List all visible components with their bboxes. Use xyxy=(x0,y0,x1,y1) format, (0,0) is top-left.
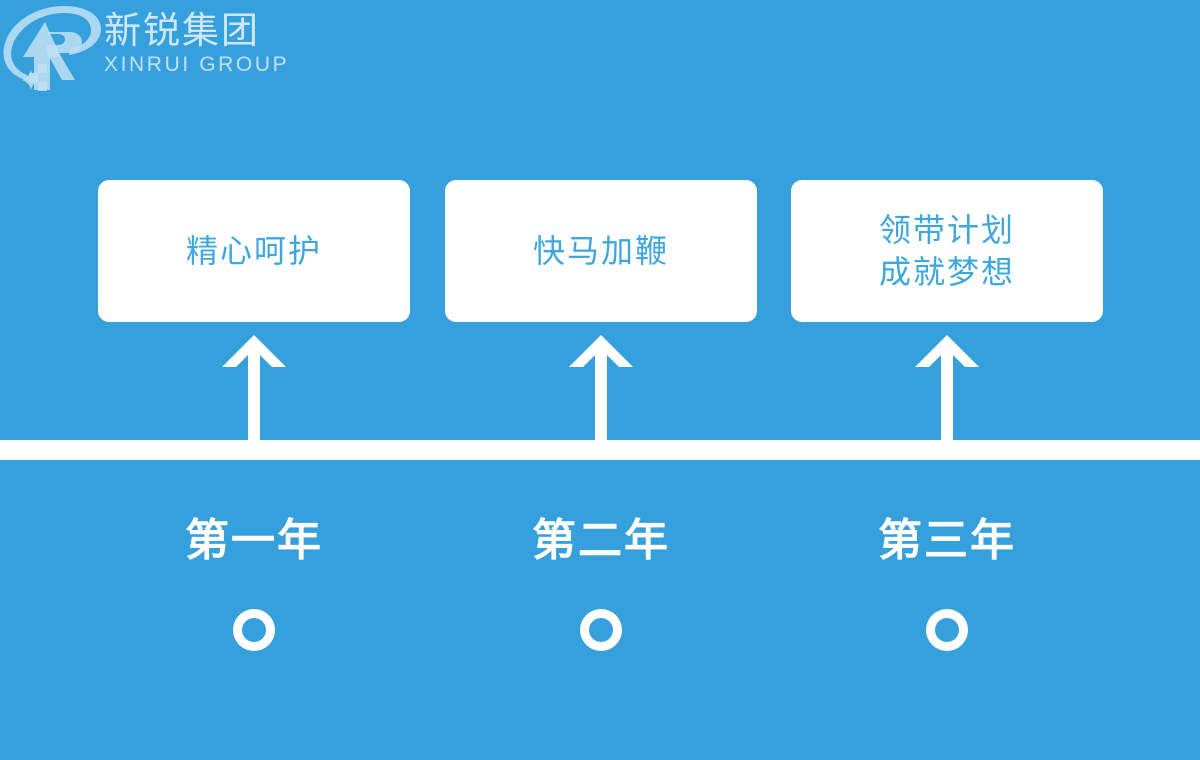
timeline-node-3 xyxy=(926,609,968,651)
milestone-card-text-2: 快马加鞭 xyxy=(533,230,669,272)
xinrui-r-swoosh-arrow-logo-icon xyxy=(0,2,108,102)
milestone-card-text-3: 领带计划 成就梦想 xyxy=(879,209,1015,293)
timeline-node-1 xyxy=(233,609,275,651)
timeline-milestone-1: 精心呵护 第一年 xyxy=(98,180,410,590)
brand-logo: 新锐集团 XINRUI GROUP xyxy=(0,0,300,105)
milestone-year-label-3: 第三年 xyxy=(791,515,1103,567)
brand-name-cn: 新锐集团 xyxy=(104,10,294,51)
arrow-up-icon xyxy=(566,335,636,455)
milestone-card-1[interactable]: 精心呵护 xyxy=(98,180,410,322)
milestone-year-label-2: 第二年 xyxy=(445,515,757,567)
brand-name-en: XINRUI GROUP xyxy=(104,53,294,77)
milestone-card-2[interactable]: 快马加鞭 xyxy=(445,180,757,322)
timeline-milestone-3: 领带计划 成就梦想 第三年 xyxy=(791,180,1103,590)
arrow-up-icon xyxy=(912,335,982,455)
milestone-year-label-1: 第一年 xyxy=(98,515,410,567)
brand-wordmark: 新锐集团 XINRUI GROUP xyxy=(104,10,294,92)
slide-canvas: 新锐集团 XINRUI GROUP 精心呵护 第一年 快马加鞭 第二年 xyxy=(0,0,1200,760)
timeline-node-2 xyxy=(580,609,622,651)
timeline-milestone-2: 快马加鞭 第二年 xyxy=(445,180,757,590)
arrow-up-icon xyxy=(219,335,289,455)
milestone-card-3[interactable]: 领带计划 成就梦想 xyxy=(791,180,1103,322)
milestone-card-text-1: 精心呵护 xyxy=(186,230,322,272)
